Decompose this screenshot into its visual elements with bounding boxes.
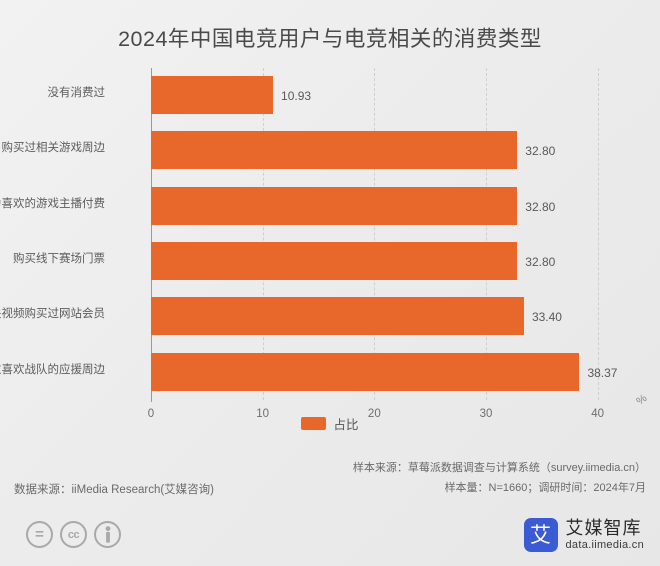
brand-name: 艾媒智库 (566, 518, 645, 539)
bar[interactable] (151, 242, 517, 280)
sample-info: 样本来源：草莓派数据调查与计算系统（survey.iimedia.cn） 样本量… (353, 458, 646, 499)
bar[interactable] (151, 76, 273, 114)
bar-value-label: 32.80 (525, 201, 555, 213)
bar-row: 购买过相关游戏周边32.80 (151, 123, 620, 178)
category-label: 没有消费过 (0, 88, 105, 100)
category-label: 购买过喜欢战队的应援周边 (0, 365, 105, 377)
bar-row: 购买线下赛场门票32.80 (151, 234, 620, 289)
legend-label: 占比 (333, 414, 358, 433)
brand-text: 艾媒智库 data.iimedia.cn (566, 518, 645, 551)
bar-chart: 没有消费过10.93购买过相关游戏周边32.80为喜欢的游戏主播付费32.80购… (0, 64, 660, 409)
bar-value-label: 33.40 (532, 311, 562, 323)
cc-icon: cc (60, 521, 87, 548)
legend-swatch-icon (301, 417, 326, 430)
category-label: 购买过相关游戏周边 (0, 143, 105, 155)
plot-area: 没有消费过10.93购买过相关游戏周边32.80为喜欢的游戏主播付费32.80购… (151, 68, 620, 400)
bar-row: 购买过喜欢战队的应援周边38.37 (151, 345, 620, 400)
bar[interactable] (151, 297, 524, 335)
equals-icon: = (26, 521, 53, 548)
bar-row: 没有消费过10.93 (151, 68, 620, 123)
brand-mark-icon: 艾 (524, 518, 558, 552)
chart-legend[interactable]: 占比 (0, 414, 660, 433)
category-label: 为相关视频购买过网站会员 (0, 309, 105, 321)
brand-url: data.iimedia.cn (566, 539, 645, 552)
bar-value-label: 10.93 (281, 90, 311, 102)
bar[interactable] (151, 187, 517, 225)
bar[interactable] (151, 131, 517, 169)
bar-row: 为喜欢的游戏主播付费32.80 (151, 179, 620, 234)
sample-size-text: 样本量：N=1660；调研时间：2024年7月 (353, 478, 646, 498)
bar-value-label: 32.80 (525, 145, 555, 157)
axis-unit-label: % (634, 392, 649, 407)
data-source-text: 数据来源：iiMedia Research(艾媒咨询) (14, 481, 214, 497)
bar-value-label: 32.80 (525, 256, 555, 268)
bar-row: 为相关视频购买过网站会员33.40 (151, 289, 620, 344)
bar[interactable] (151, 353, 579, 391)
person-icon (94, 521, 121, 548)
sample-source-text: 样本来源：草莓派数据调查与计算系统（survey.iimedia.cn） (353, 458, 646, 478)
chart-page: 2024年中国电竞用户与电竞相关的消费类型 没有消费过10.93购买过相关游戏周… (0, 0, 660, 566)
bar-value-label: 38.37 (587, 367, 617, 379)
page-title: 2024年中国电竞用户与电竞相关的消费类型 (0, 22, 660, 53)
brand-logo: 艾 艾媒智库 data.iimedia.cn (524, 518, 645, 552)
category-label: 为喜欢的游戏主播付费 (0, 199, 105, 211)
creative-commons-badges: = cc (26, 521, 121, 548)
category-label: 购买线下赛场门票 (0, 254, 105, 266)
